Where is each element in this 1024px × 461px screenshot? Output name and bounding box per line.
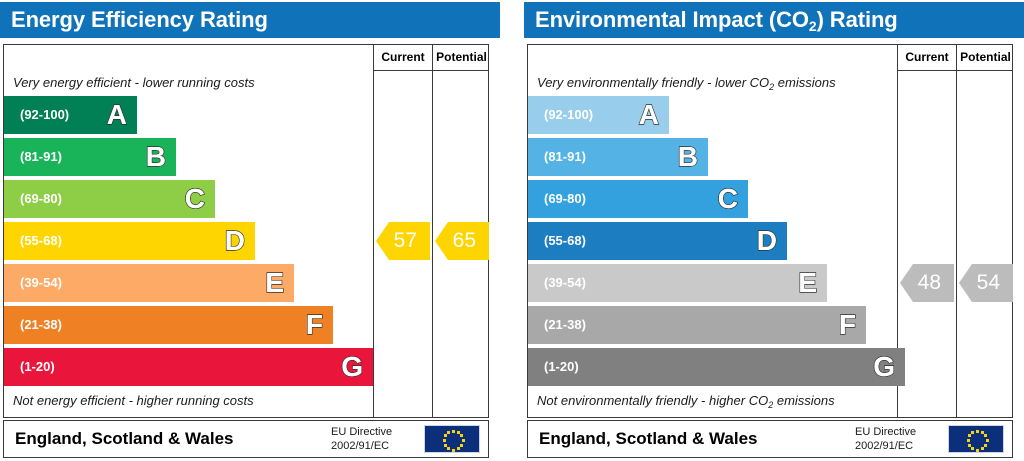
- rating-band-b: (81-91)B: [528, 138, 708, 176]
- eu-flag-icon: [424, 425, 480, 453]
- band-range-f: (21-38): [544, 306, 586, 344]
- footer-country-environmental-impact: England, Scotland & Wales: [539, 421, 758, 457]
- column-divider-current: [373, 45, 374, 417]
- band-range-c: (69-80): [20, 180, 62, 218]
- footer-country-energy-efficiency: England, Scotland & Wales: [15, 421, 234, 457]
- rating-band-g: (1-20)G: [4, 348, 373, 386]
- rating-band-e: (39-54)E: [528, 264, 827, 302]
- rating-bands-energy-efficiency: (92-100)A(81-91)B(69-80)C(55-68)D(39-54)…: [4, 96, 373, 390]
- potential-rating-arrow-environmental-impact: 54: [959, 264, 1013, 302]
- band-range-a: (92-100): [544, 96, 593, 134]
- column-header-rule: [373, 70, 488, 71]
- band-range-d: (55-68): [544, 222, 586, 260]
- eu-flag-star: [457, 447, 460, 450]
- chart-title-energy-efficiency: Energy Efficiency Rating: [0, 2, 500, 38]
- eu-flag-star: [447, 447, 450, 450]
- eu-flag-star: [986, 439, 989, 442]
- rating-band-b: (81-91)B: [4, 138, 176, 176]
- rating-band-c: (69-80)C: [528, 180, 748, 218]
- band-letter-d: D: [757, 222, 777, 260]
- band-range-g: (1-20): [544, 348, 579, 386]
- eu-flag-star: [460, 444, 463, 447]
- eu-flag-icon: [948, 425, 1004, 453]
- footer-directive-environmental-impact: EU Directive2002/91/EC: [855, 425, 941, 453]
- chart-footer-energy-efficiency: England, Scotland & WalesEU Directive200…: [3, 420, 489, 458]
- rating-bands-environmental-impact: (92-100)A(81-91)B(69-80)C(55-68)D(39-54)…: [528, 96, 897, 390]
- band-letter-g: G: [873, 348, 895, 386]
- chart-title-environmental-impact: Environmental Impact (CO2) Rating: [524, 2, 1024, 38]
- column-header-current: Current: [898, 45, 956, 70]
- epc-chart-environmental-impact: Environmental Impact (CO2) RatingCurrent…: [524, 0, 1024, 461]
- footer-directive-energy-efficiency: EU Directive2002/91/EC: [331, 425, 417, 453]
- band-letter-f: F: [306, 306, 323, 344]
- band-range-b: (81-91): [20, 138, 62, 176]
- band-letter-c: C: [185, 180, 205, 218]
- column-header-rule: [897, 70, 1012, 71]
- column-header-potential: Potential: [433, 45, 490, 70]
- caption-bottom-environmental-impact: Not environmentally friendly - higher CO…: [537, 393, 835, 408]
- band-letter-b: B: [146, 138, 166, 176]
- eu-flag-star: [444, 444, 447, 447]
- eu-flag-star: [976, 430, 979, 433]
- band-range-g: (1-20): [20, 348, 55, 386]
- rating-band-a: (92-100)A: [528, 96, 669, 134]
- potential-rating-arrow-energy-efficiency: 65: [435, 222, 489, 260]
- chart-footer-environmental-impact: England, Scotland & WalesEU Directive200…: [527, 420, 1013, 458]
- column-header-current: Current: [374, 45, 432, 70]
- epc-chart-energy-efficiency: Energy Efficiency RatingCurrentPotential…: [0, 0, 500, 461]
- band-range-b: (81-91): [544, 138, 586, 176]
- rating-band-d: (55-68)D: [4, 222, 255, 260]
- eu-flag-star: [971, 431, 974, 434]
- eu-flag-star: [968, 444, 971, 447]
- rating-band-f: (21-38)F: [4, 306, 333, 344]
- eu-flag-star: [447, 431, 450, 434]
- band-range-e: (39-54): [544, 264, 586, 302]
- eu-flag-star: [452, 449, 455, 452]
- band-letter-d: D: [225, 222, 245, 260]
- eu-flag-star: [968, 434, 971, 437]
- current-rating-arrow-environmental-impact: 48: [900, 264, 954, 302]
- band-letter-a: A: [107, 96, 127, 134]
- rating-band-d: (55-68)D: [528, 222, 787, 260]
- current-rating-arrow-energy-efficiency: 57: [376, 222, 430, 260]
- rating-band-c: (69-80)C: [4, 180, 215, 218]
- eu-flag-star: [984, 434, 987, 437]
- band-letter-a: A: [639, 96, 659, 134]
- band-range-f: (21-38): [20, 306, 62, 344]
- rating-band-g: (1-20)G: [528, 348, 905, 386]
- eu-flag-star: [967, 439, 970, 442]
- rating-band-e: (39-54)E: [4, 264, 294, 302]
- band-letter-g: G: [341, 348, 363, 386]
- caption-top-energy-efficiency: Very energy efficient - lower running co…: [13, 75, 255, 90]
- band-letter-b: B: [678, 138, 698, 176]
- band-letter-e: E: [798, 264, 817, 302]
- column-divider-potential: [432, 45, 433, 417]
- eu-flag-star: [444, 434, 447, 437]
- band-range-a: (92-100): [20, 96, 69, 134]
- band-range-e: (39-54): [20, 264, 62, 302]
- rating-band-a: (92-100)A: [4, 96, 137, 134]
- caption-top-environmental-impact: Very environmentally friendly - lower CO…: [537, 75, 836, 90]
- column-divider-potential: [956, 45, 957, 417]
- band-letter-e: E: [265, 264, 284, 302]
- band-range-d: (55-68): [20, 222, 62, 260]
- eu-flag-star: [971, 447, 974, 450]
- chart-body-energy-efficiency: CurrentPotentialVery energy efficient - …: [3, 44, 489, 418]
- eu-flag-star: [460, 434, 463, 437]
- band-range-c: (69-80): [544, 180, 586, 218]
- eu-flag-star: [443, 439, 446, 442]
- band-letter-c: C: [718, 180, 738, 218]
- eu-flag-star: [462, 439, 465, 442]
- band-letter-f: F: [839, 306, 856, 344]
- column-header-potential: Potential: [957, 45, 1014, 70]
- eu-flag-star: [452, 430, 455, 433]
- eu-flag-star: [981, 447, 984, 450]
- eu-flag-star: [976, 449, 979, 452]
- epc-certificate-page: Energy Efficiency RatingCurrentPotential…: [0, 0, 1024, 461]
- rating-band-f: (21-38)F: [528, 306, 866, 344]
- eu-flag-star: [984, 444, 987, 447]
- chart-body-environmental-impact: CurrentPotentialVery environmentally fri…: [527, 44, 1013, 418]
- caption-bottom-energy-efficiency: Not energy efficient - higher running co…: [13, 393, 254, 408]
